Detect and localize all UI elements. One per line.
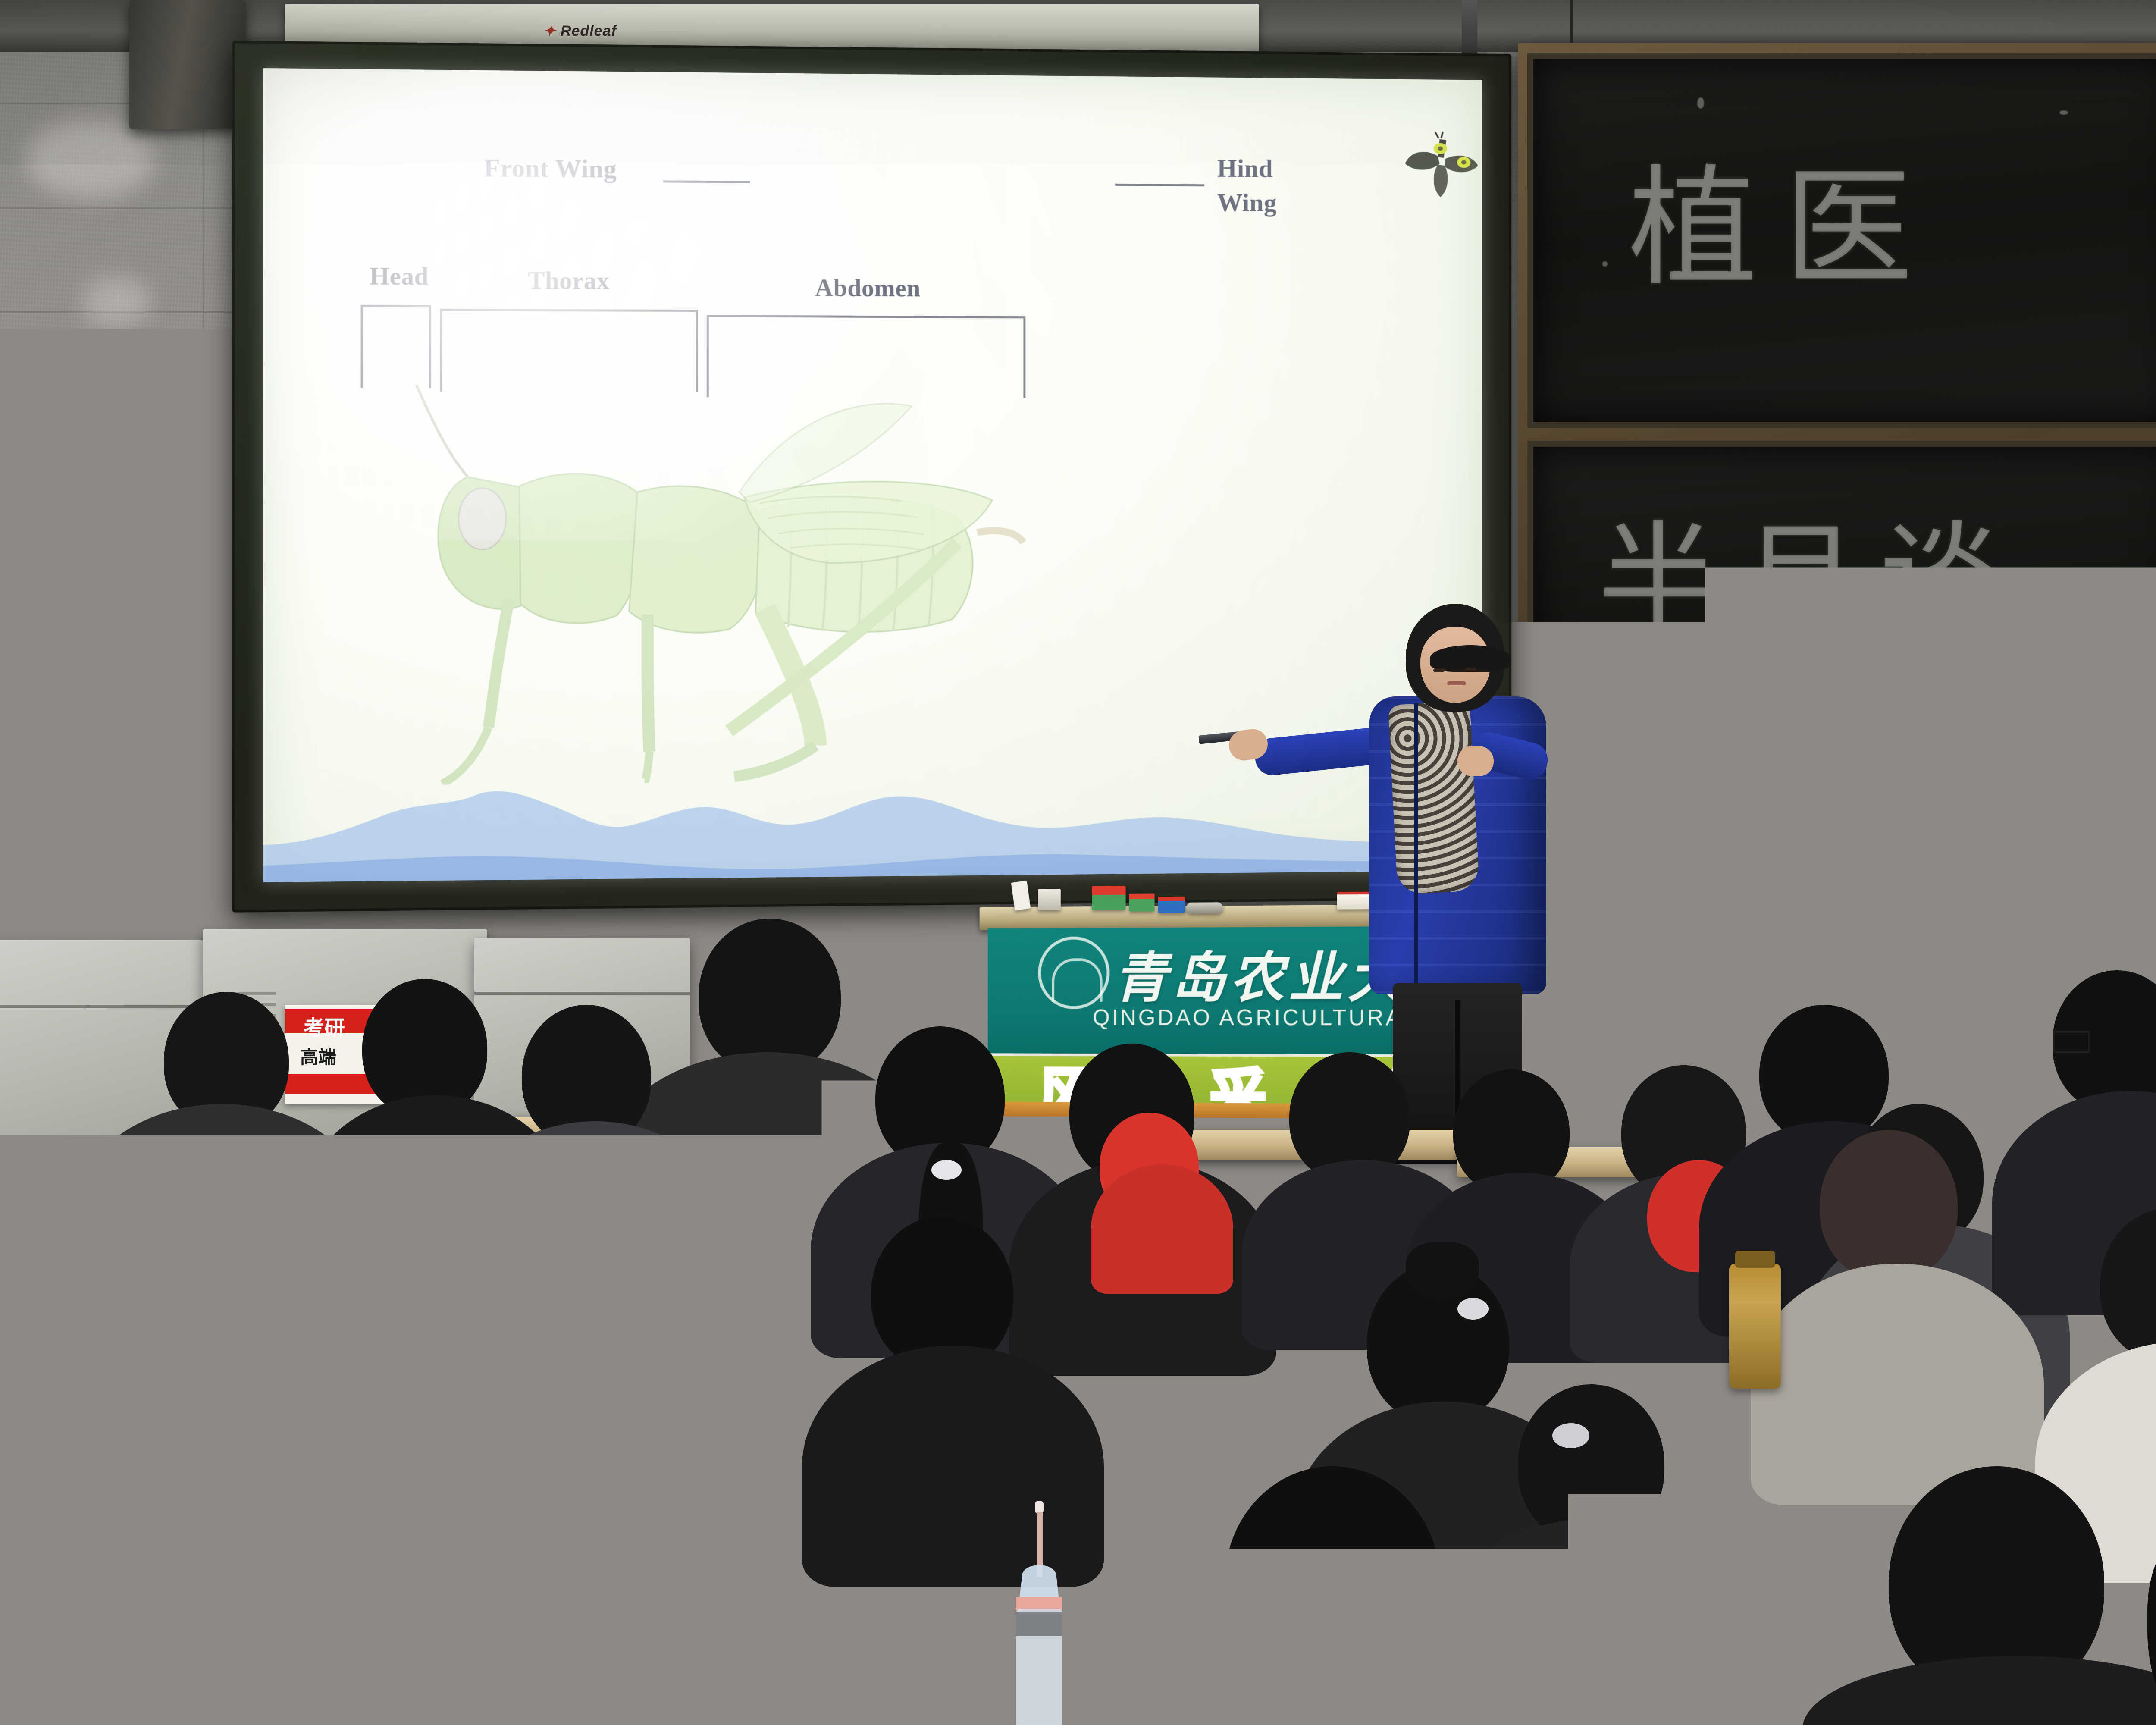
poster-left-headline: 考研: [304, 1011, 345, 1041]
cabinet-right-b-vent: [1919, 1005, 1966, 1108]
blackboard-lower-text: 半月谈: [1598, 481, 2020, 656]
blackboard-upper-panel: 植医: [1527, 53, 2156, 428]
moth-icon: [1394, 130, 1482, 199]
slide-label-front-wing: Front Wing: [484, 153, 617, 184]
hair-clip: [1552, 1423, 1589, 1448]
blackboard-assembly: 植医 半月谈 植物医学院 2018.11.16: [1518, 43, 2156, 845]
university-seal-icon: [1038, 936, 1109, 1009]
water-bottle-with-straw[interactable]: [996, 1501, 1082, 1725]
presenter-left-eye: [1433, 668, 1445, 672]
blackboard-eraser[interactable]: [1186, 902, 1223, 913]
thermos-bottle[interactable]: [1729, 1264, 1781, 1389]
chalk-speck-1: [1697, 97, 1704, 109]
chalk-box-blue[interactable]: [1158, 897, 1185, 913]
slide-label-thorax: Thorax: [528, 266, 609, 295]
slide-label-hind-wing-line2: Wing: [1217, 188, 1277, 218]
wall-stain-5: [60, 647, 172, 733]
chalk-box-red[interactable]: [1092, 886, 1125, 910]
slide-label-head: Head: [370, 261, 429, 291]
jacket-text-active: ACTIVE: [121, 1182, 211, 1207]
blackboard-signature: 植物医学院: [1896, 654, 2029, 690]
projector-brand-label: ✦ Redleaf: [543, 22, 617, 40]
wall-stain-2: [82, 276, 151, 328]
presenter-head: [1406, 604, 1505, 712]
lecture-hall-photo: ✦ Redleaf Front: [0, 0, 2156, 1725]
chalk-speck-3: [2059, 110, 2068, 115]
student-top-knot: [1406, 1242, 1479, 1298]
hair-tie: [931, 1160, 962, 1180]
chalk-box-green[interactable]: [1129, 893, 1154, 911]
chalk-speck-2: [1602, 261, 1608, 267]
slide-label-hind-wing-line1: Hind: [1217, 154, 1273, 183]
front-wing-leader-line: [663, 180, 750, 183]
presenter-right-eye: [1465, 668, 1476, 671]
hind-wing-leader-line: [1115, 184, 1204, 186]
white-chalk-holder[interactable]: [1038, 889, 1061, 910]
presenter-scarf: [1388, 701, 1480, 894]
cabinet-left-a-seam: [0, 1005, 216, 1008]
projection-screen-frame: Front Wing Hind Wing Head Thorax Abdomen: [232, 41, 1512, 912]
student-shoulders: [457, 1121, 733, 1345]
cabinet-left-c-seam: [474, 992, 690, 995]
slide-label-abdomen: Abdomen: [815, 273, 921, 302]
student-shoulders: [1091, 1164, 1233, 1294]
eyeglasses: [2053, 1031, 2090, 1053]
student-head: [1820, 1130, 1958, 1281]
chalk-tray: [1524, 835, 2156, 855]
presenter-right-hand: [1457, 746, 1494, 776]
blackboard-lower-panel: 半月谈 植物医学院 2018.11.16: [1527, 441, 2156, 837]
wall-outlet-lower[interactable]: [2005, 914, 2046, 938]
notebook-paper[interactable]: [1707, 1494, 1820, 1526]
hair-tie: [1457, 1298, 1489, 1320]
thermos-lid[interactable]: [1735, 1251, 1775, 1268]
paper-sheet-foreground[interactable]: [508, 1661, 639, 1711]
wall-sign-left: 物品放置处: [51, 455, 141, 479]
poster-left-sub: 高端: [300, 1043, 336, 1069]
ceiling-speaker-box: [129, 0, 246, 129]
jacket-zipper: [1414, 703, 1418, 992]
presenter-mouth: [1447, 681, 1466, 685]
grasshopper-illustration: [338, 322, 1102, 785]
blackboard-date: 2018.11.16: [1913, 693, 2043, 719]
wall-stain-1: [26, 121, 155, 198]
student-head: [699, 919, 841, 1074]
presenter-face: [1420, 627, 1490, 703]
blackboard-upper-text: 植医: [1628, 123, 1939, 310]
